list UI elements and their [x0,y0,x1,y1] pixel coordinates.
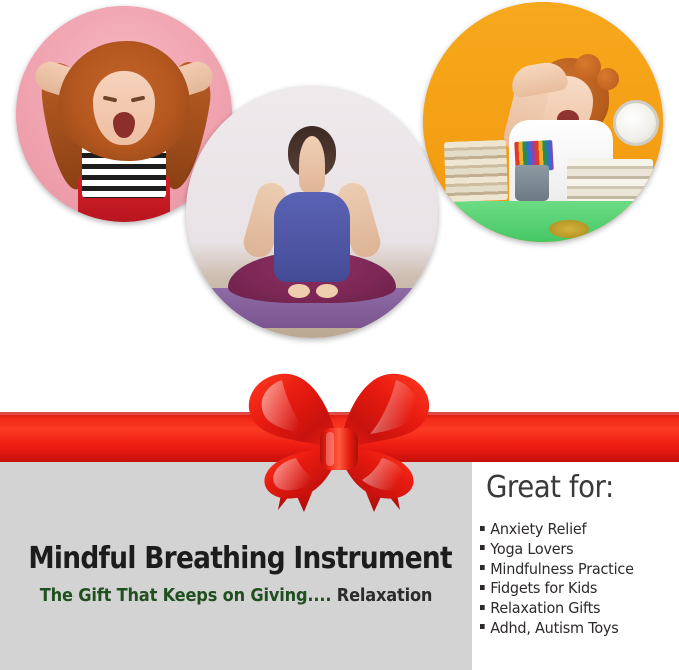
square-bullet-icon [480,624,485,629]
list-item: Relaxation Gifts [480,599,661,619]
photo-woman-meditating [186,86,438,338]
list-item: Adhd, Autism Toys [480,619,661,639]
red-gift-bow-icon [208,362,470,512]
yoga-foot-left [288,284,310,298]
book-stack-left [444,140,508,202]
photo-frustrated-schoolgirl [423,2,663,242]
benefits-panel: Great for: Anxiety Relief Yoga Lovers Mi… [472,462,679,670]
yoga-blue-tank-top [274,192,350,282]
list-item-label: Adhd, Autism Toys [490,619,618,637]
book-stack-right [567,159,653,201]
photo-yoga-inner [186,86,438,338]
list-item: Fidgets for Kids [480,579,661,599]
magnifying-glass [549,220,589,238]
benefits-list: Anxiety Relief Yoga Lovers Mindfulness P… [480,520,675,639]
square-bullet-icon [480,585,485,590]
list-item: Anxiety Relief [480,520,661,540]
square-bullet-icon [480,526,485,531]
subtitle-green-text: The Gift That Keeps on Giving.... [40,585,332,606]
square-bullet-icon [480,545,485,550]
schoolgirl-hair-bun-lower [597,68,619,90]
list-item-label: Yoga Lovers [490,540,573,558]
list-item-label: Relaxation Gifts [490,599,600,617]
benefits-heading: Great for: [486,470,614,505]
photo-schoolgirl-inner [423,2,663,242]
square-bullet-icon [480,605,485,610]
alarm-clock [613,100,659,146]
green-desk [423,201,663,242]
yoga-prayer-hands [299,136,325,192]
product-subtitle: The Gift That Keeps on Giving.... Relaxa… [24,585,449,606]
list-item: Yoga Lovers [480,540,661,560]
angry-girl-open-mouth [113,112,135,138]
list-item: Mindfulness Practice [480,560,661,580]
angry-girl-face [93,71,155,145]
subtitle-dark-text: Relaxation [337,585,432,606]
list-item-label: Mindfulness Practice [490,560,633,578]
square-bullet-icon [480,565,485,570]
list-item-label: Fidgets for Kids [490,579,597,597]
pencil-cup [515,165,549,201]
angry-girl-eye-left [103,96,118,103]
page-title: Mindful Breathing Instrument [28,541,443,576]
product-poster: Mindful Breathing Instrument The Gift Th… [0,0,679,670]
angry-girl-eye-right [131,96,146,103]
list-item-label: Anxiety Relief [490,520,586,538]
yoga-foot-right [316,284,338,298]
